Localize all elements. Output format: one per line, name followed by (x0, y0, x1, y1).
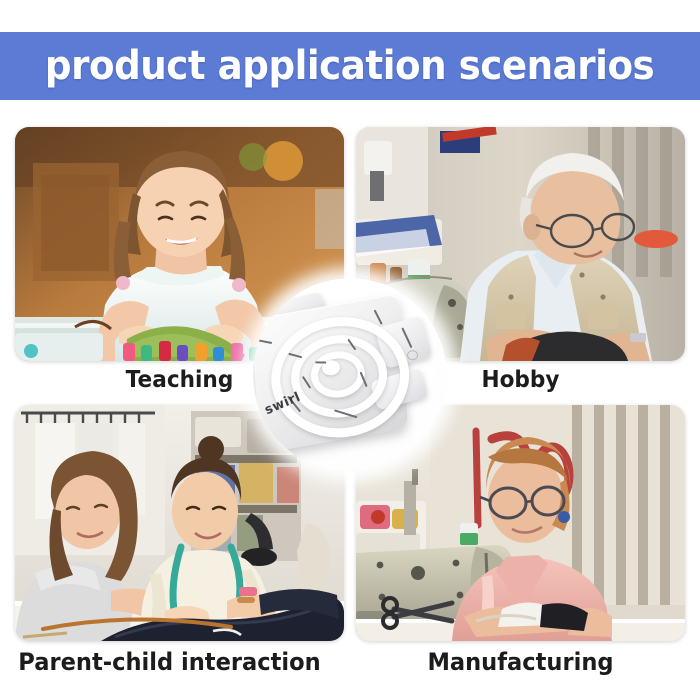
caption-manufacturing: Manufacturing (366, 648, 675, 676)
notch-mark (315, 361, 326, 363)
caption-parent-child-interaction: Parent-child interaction (15, 648, 324, 676)
page-title: product application scenarios (45, 43, 654, 89)
header-banner: product application scenarios (0, 32, 700, 100)
product-medallion[interactable]: swirl (253, 278, 447, 472)
product-swirl-template: swirl (253, 278, 447, 472)
